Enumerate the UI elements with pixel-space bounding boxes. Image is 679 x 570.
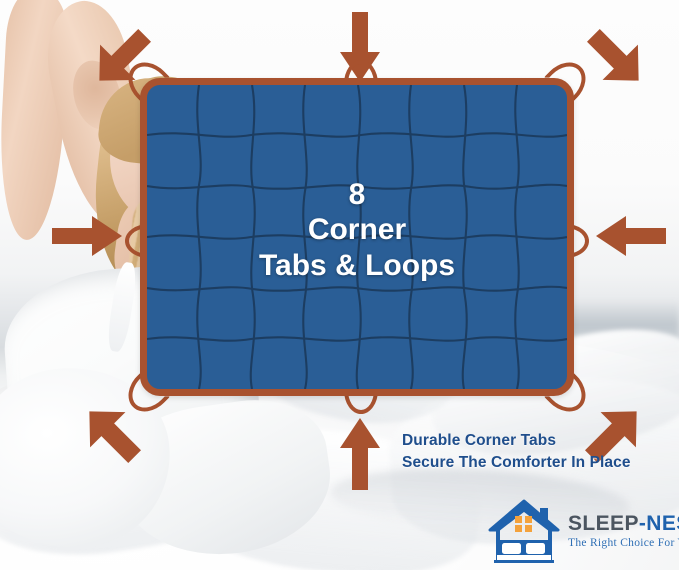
arrow-bottom-center: [338, 416, 382, 492]
quilt-stitching: [147, 85, 567, 389]
brand-logo: SLEEP-NEST The Right Choice For You: [488, 498, 674, 564]
brand-name: SLEEP-NEST: [568, 513, 679, 534]
comforter-graphic: 8 Corner Tabs & Loops: [140, 78, 574, 396]
house-with-bed-icon: [488, 499, 562, 563]
arrow-left-center: [52, 214, 124, 258]
logo-wordmark: SLEEP-NEST The Right Choice For You: [568, 513, 679, 549]
brand-tagline: The Right Choice For You: [568, 537, 679, 549]
product-image-canvas: 8 Corner Tabs & Loops Durable Corner Tab…: [0, 0, 679, 570]
comforter-body: 8 Corner Tabs & Loops: [140, 78, 574, 396]
brand-name-part-2: -NEST: [639, 512, 679, 535]
feature-tagline: Durable Corner Tabs Secure The Comforter…: [402, 430, 631, 474]
arrow-top-right: [580, 22, 652, 94]
tagline-line-2: Secure The Comforter In Place: [402, 452, 631, 474]
tagline-line-1: Durable Corner Tabs: [402, 430, 631, 452]
brand-name-part-1: SLEEP: [568, 512, 639, 535]
arrow-right-center: [594, 214, 666, 258]
